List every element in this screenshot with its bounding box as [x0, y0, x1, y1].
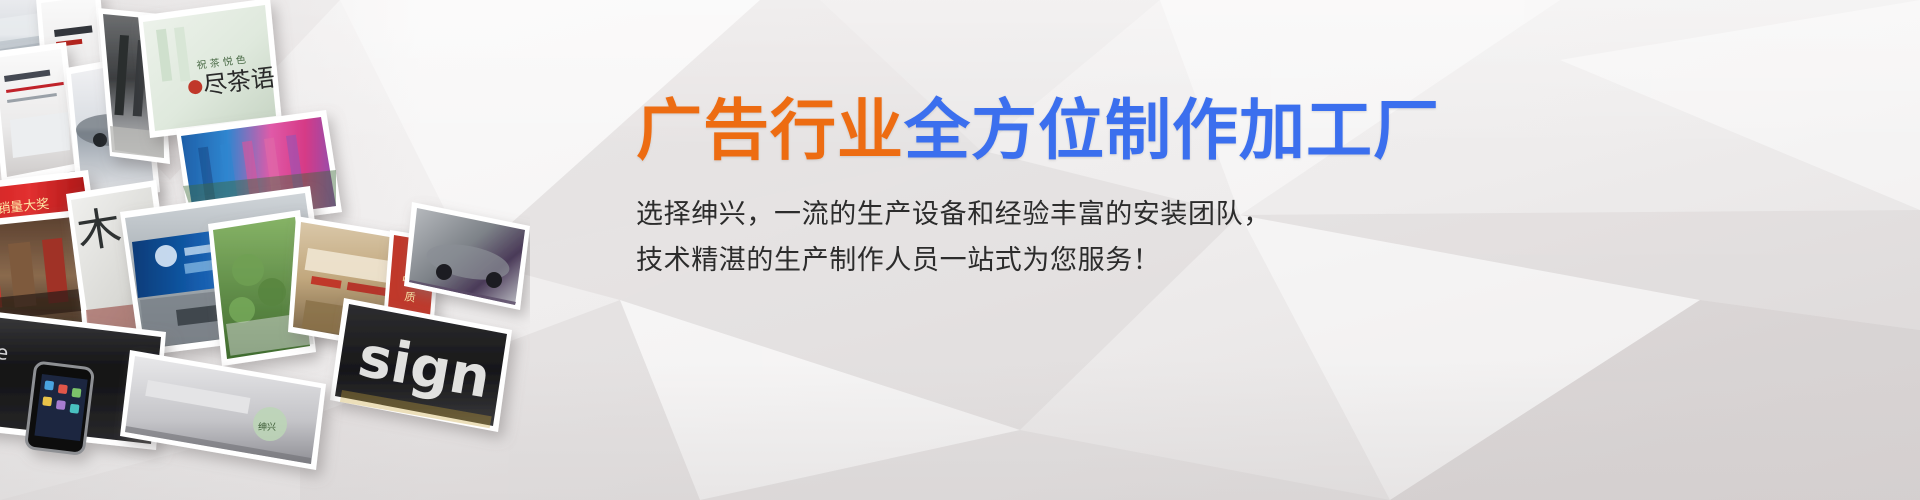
headline-segment-blue: 全方位制作加工厂	[904, 92, 1440, 169]
banner-subtitle: 选择绅兴，一流的生产设备和经验丰富的安装团队， 技术精湛的生产制作人员一站式为您…	[636, 192, 1636, 285]
promo-banner: 祝 茶 悦 色 尽茶语 年度销量大奖	[0, 0, 1920, 500]
banner-copy: 广告行业全方位制作加工厂 选择绅兴，一流的生产设备和经验丰富的安装团队， 技术精…	[636, 96, 1636, 285]
subtitle-line-2: 技术精湛的生产制作人员一站式为您服务！	[636, 238, 1636, 284]
page-title: 广告行业全方位制作加工厂	[636, 96, 1636, 166]
subtitle-line-1: 选择绅兴，一流的生产设备和经验丰富的安装团队，	[636, 192, 1636, 238]
collage-photo-tea-shop-signboard: 祝 茶 悦 色 尽茶语	[138, 0, 282, 138]
collage-photo-sign-channel-letters: sign	[330, 298, 512, 432]
photo-collage: 祝 茶 悦 色 尽茶语 年度销量大奖	[0, 0, 530, 500]
headline-segment-orange: 广告行业	[636, 92, 904, 169]
svg-text:木: 木	[73, 202, 124, 259]
svg-text:质: 质	[404, 290, 417, 305]
collage-photo-exhibition-booth: 绅兴	[120, 350, 326, 470]
svg-text:绅兴: 绅兴	[258, 421, 276, 433]
collage-photo-brochure-box-lower	[0, 42, 80, 184]
